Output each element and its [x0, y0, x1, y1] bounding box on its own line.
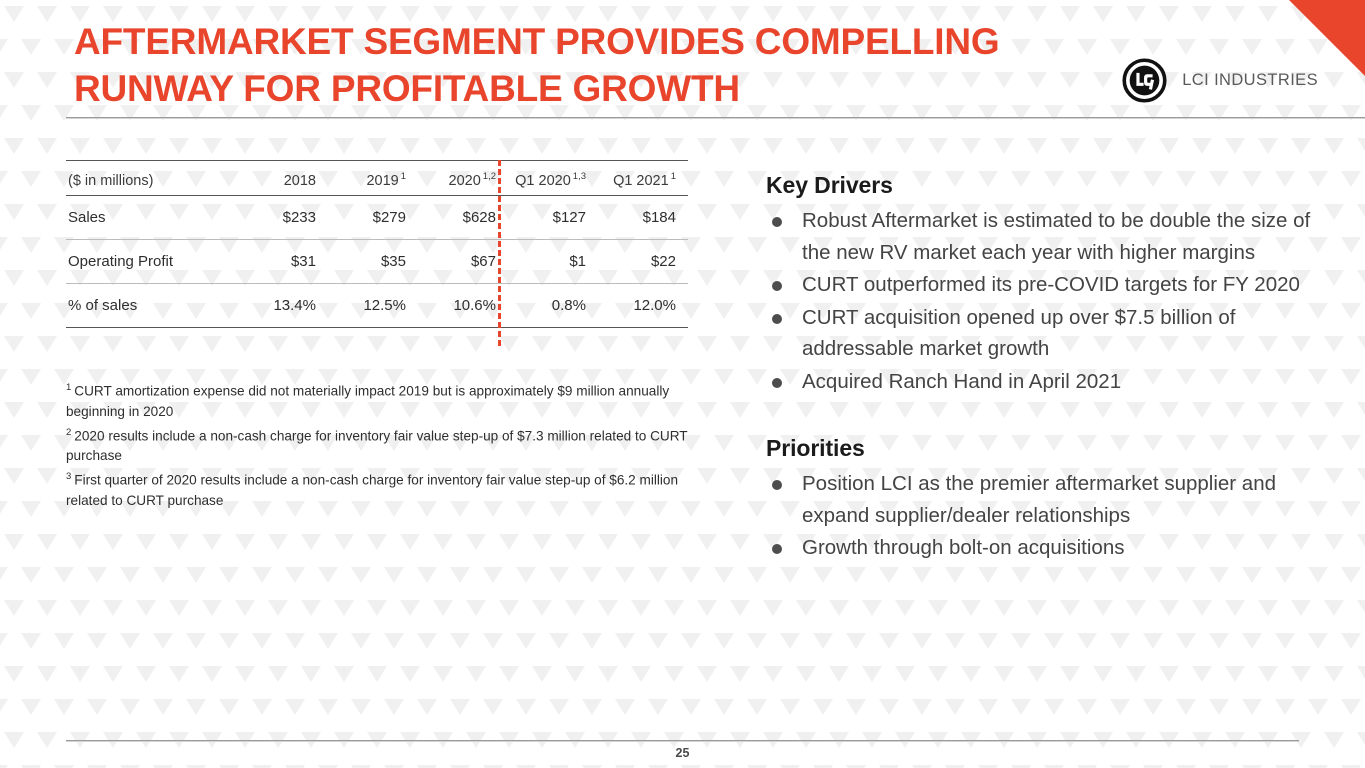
footnote-marker: 3 — [66, 471, 71, 482]
financial-table-region: ($ in millions) 2018 20191 20201,2 Q1 20… — [66, 160, 688, 328]
quarter-section-divider — [498, 160, 501, 346]
table-header-row: ($ in millions) 2018 20191 20201,2 Q1 20… — [66, 161, 688, 196]
bullet-icon — [772, 281, 782, 291]
table-cell: $628 — [418, 196, 508, 240]
list-item: Growth through bolt-on acquisitions — [766, 532, 1326, 564]
footnotes-region: 1CURT amortization expense did not mater… — [66, 378, 691, 512]
list-item-text: CURT acquisition opened up over $7.5 bil… — [802, 306, 1235, 361]
bullet-icon — [772, 378, 782, 388]
table-cell: $22 — [598, 240, 688, 284]
column-header-label: 2019 — [366, 173, 398, 189]
column-header-label: 2020 — [449, 173, 481, 189]
row-label: % of sales — [66, 284, 238, 328]
footnote-item: 22020 results include a non-cash charge … — [66, 423, 691, 467]
header-divider — [66, 117, 1365, 119]
list-item-text: Growth through bolt-on acquisitions — [802, 536, 1125, 559]
table-cell: 0.8% — [508, 284, 598, 328]
row-label: Operating Profit — [66, 240, 238, 284]
table-row: % of sales 13.4% 12.5% 10.6% 0.8% 12.0% — [66, 284, 688, 328]
list-item: Robust Aftermarket is estimated to be do… — [766, 205, 1326, 268]
priorities-list: Position LCI as the premier aftermarket … — [766, 468, 1326, 564]
bullet-icon — [772, 217, 782, 227]
table-cell: $67 — [418, 240, 508, 284]
table-body: Sales $233 $279 $628 $127 $184 Operating… — [66, 196, 688, 328]
list-item: CURT outperformed its pre-COVID targets … — [766, 269, 1326, 301]
list-item: Position LCI as the premier aftermarket … — [766, 468, 1326, 531]
table-cell: $1 — [508, 240, 598, 284]
column-header-q1-2021: Q1 20211 — [598, 161, 688, 196]
column-header-2018: 2018 — [238, 161, 328, 196]
table-cell: $127 — [508, 196, 598, 240]
row-label: Sales — [66, 196, 238, 240]
page-number: 25 — [0, 746, 1365, 760]
table-cell: $184 — [598, 196, 688, 240]
bullet-icon — [772, 544, 782, 554]
footer-divider — [66, 740, 1299, 742]
table-cell: 12.5% — [328, 284, 418, 328]
table-cell: 10.6% — [418, 284, 508, 328]
footnote-ref: 1 — [671, 171, 676, 182]
right-content-column: Key Drivers Robust Aftermarket is estima… — [766, 172, 1326, 565]
financial-table: ($ in millions) 2018 20191 20201,2 Q1 20… — [66, 160, 688, 328]
footnote-item: 3First quarter of 2020 results include a… — [66, 467, 691, 511]
slide-header: AFTERMARKET SEGMENT PROVIDES COMPELLING … — [66, 12, 1365, 112]
priorities-heading: Priorities — [766, 435, 1326, 462]
bullet-icon — [772, 480, 782, 490]
unit-label: ($ in millions) — [66, 161, 238, 196]
slide-canvas: AFTERMARKET SEGMENT PROVIDES COMPELLING … — [0, 0, 1365, 768]
table-cell: $279 — [328, 196, 418, 240]
footnote-ref: 1,3 — [573, 171, 586, 182]
list-item-text: CURT outperformed its pre-COVID targets … — [802, 273, 1300, 296]
list-item-text: Position LCI as the premier aftermarket … — [802, 472, 1276, 527]
brand-name: LCI INDUSTRIES — [1182, 71, 1318, 90]
priorities-block: Priorities Position LCI as the premier a… — [766, 435, 1326, 564]
page-title: AFTERMARKET SEGMENT PROVIDES COMPELLING … — [74, 18, 1034, 112]
bullet-icon — [772, 314, 782, 324]
footnote-marker: 2 — [66, 427, 71, 438]
lci-monogram-icon — [1122, 58, 1167, 103]
column-header-label: Q1 2020 — [515, 173, 571, 189]
table-row: Operating Profit $31 $35 $67 $1 $22 — [66, 240, 688, 284]
key-drivers-list: Robust Aftermarket is estimated to be do… — [766, 205, 1326, 397]
footnote-text: First quarter of 2020 results include a … — [66, 473, 678, 508]
column-header-q1-2020: Q1 20201,3 — [508, 161, 598, 196]
list-item-text: Robust Aftermarket is estimated to be do… — [802, 209, 1310, 264]
key-drivers-heading: Key Drivers — [766, 172, 1326, 199]
list-item: Acquired Ranch Hand in April 2021 — [766, 366, 1326, 398]
table-cell: 12.0% — [598, 284, 688, 328]
footnote-ref: 1,2 — [483, 171, 496, 182]
key-drivers-block: Key Drivers Robust Aftermarket is estima… — [766, 172, 1326, 397]
footnote-item: 1CURT amortization expense did not mater… — [66, 378, 691, 422]
table-cell: $35 — [328, 240, 418, 284]
column-header-label: Q1 2021 — [613, 173, 669, 189]
table-row: Sales $233 $279 $628 $127 $184 — [66, 196, 688, 240]
table-cell: $233 — [238, 196, 328, 240]
table-cell: 13.4% — [238, 284, 328, 328]
column-header-2019: 20191 — [328, 161, 418, 196]
table-cell: $31 — [238, 240, 328, 284]
table-header: ($ in millions) 2018 20191 20201,2 Q1 20… — [66, 161, 688, 196]
column-header-label: 2018 — [284, 173, 316, 189]
footnote-text: 2020 results include a non-cash charge f… — [66, 428, 687, 463]
column-header-2020: 20201,2 — [418, 161, 508, 196]
list-item: CURT acquisition opened up over $7.5 bil… — [766, 302, 1326, 365]
list-item-text: Acquired Ranch Hand in April 2021 — [802, 370, 1121, 393]
footnote-marker: 1 — [66, 382, 71, 393]
brand-lockup: LCI INDUSTRIES — [1122, 58, 1318, 103]
footnote-text: CURT amortization expense did not materi… — [66, 384, 669, 419]
footnote-ref: 1 — [401, 171, 406, 182]
